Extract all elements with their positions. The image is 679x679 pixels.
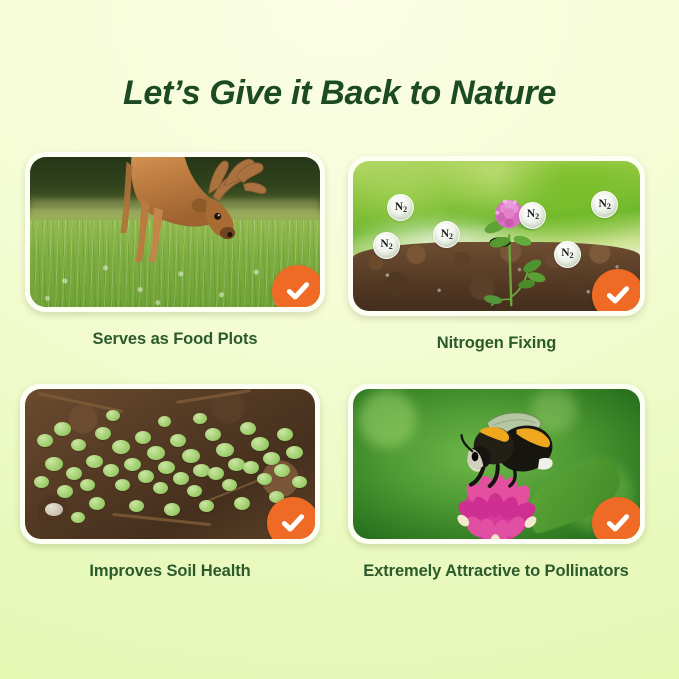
benefit-card-nitrogen-fixing[interactable]: N2 N2 N2 N2 N2 N2 Nitrogen Fixing <box>348 156 648 353</box>
nitrogen-molecule-bubble: N2 <box>519 202 546 229</box>
benefit-caption: Serves as Food Plots <box>25 330 325 349</box>
benefit-image-nitrogen-fixing: N2 N2 N2 N2 N2 N2 <box>353 161 640 311</box>
check-icon <box>604 509 632 537</box>
benefit-image-pollinators <box>353 389 640 539</box>
nitrogen-molecule-bubble: N2 <box>554 241 581 268</box>
benefit-image-food-plots <box>30 157 320 307</box>
clover-plant-illustration <box>451 182 572 308</box>
check-badge <box>592 269 640 311</box>
bumblebee-illustration <box>433 407 588 494</box>
nitrogen-molecule-bubble: N2 <box>591 191 618 218</box>
check-badge <box>267 497 315 539</box>
thumbnail-frame <box>348 384 645 544</box>
benefit-caption: Extremely Attractive to Pollinators <box>336 562 656 581</box>
benefit-caption: Nitrogen Fixing <box>348 334 645 353</box>
benefit-card-food-plots[interactable]: Serves as Food Plots <box>25 152 325 349</box>
check-icon <box>604 281 632 309</box>
check-icon <box>284 277 312 305</box>
thumbnail-frame <box>20 384 320 544</box>
deer-illustration <box>105 157 285 268</box>
benefit-image-soil-health <box>25 389 315 539</box>
benefit-card-soil-health[interactable]: Improves Soil Health <box>20 384 320 581</box>
thumbnail-frame <box>25 152 325 312</box>
check-badge <box>272 265 320 307</box>
benefit-card-pollinators[interactable]: Extremely Attractive to Pollinators <box>348 384 648 581</box>
nitrogen-molecule-bubble: N2 <box>373 232 400 259</box>
page-title: Let’s Give it Back to Nature <box>0 74 679 113</box>
benefits-grid: Serves as Food Plots <box>0 152 679 632</box>
check-badge <box>592 497 640 539</box>
check-icon <box>279 509 307 537</box>
infographic-page: Let’s Give it Back to Nature <box>0 0 679 679</box>
thumbnail-frame: N2 N2 N2 N2 N2 N2 <box>348 156 645 316</box>
benefit-caption: Improves Soil Health <box>20 562 320 581</box>
